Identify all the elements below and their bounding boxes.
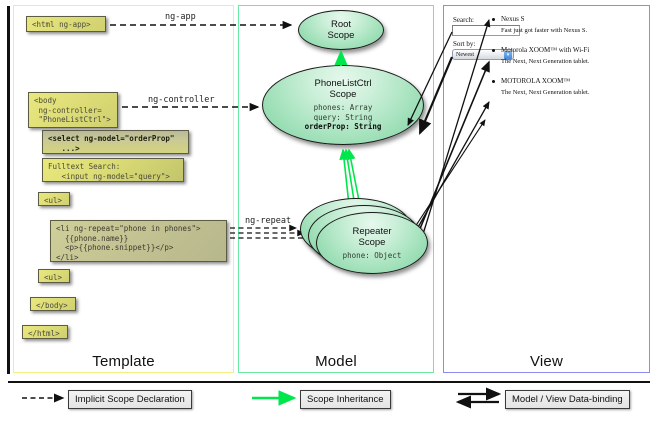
scope-root-title-2: Scope [328, 30, 355, 41]
view-sort-label: Sort by: [453, 40, 475, 48]
list-item[interactable]: Nexus S Fast just got faster with Nexus … [489, 14, 644, 36]
panel-view-title: View [444, 353, 649, 370]
scope-phonelist-title-2: Scope [330, 89, 357, 100]
panel-template-title: Template [14, 353, 233, 370]
phone-name: MOTOROLA XOOM™ [489, 76, 644, 86]
phone-snippet: The Next, Next Generation tablet. [489, 88, 644, 98]
code-li-repeat: <li ng-repeat="phone in phones"> {{phone… [50, 220, 227, 262]
code-ul-open: <ul> [38, 192, 70, 206]
scope-phonelist-title-1: PhoneListCtrl [314, 78, 371, 89]
connector-label-ng-controller: ng-controller [146, 95, 217, 105]
view-search-label: Search: [453, 16, 474, 24]
legend-item-data-binding: Model / View Data-binding [505, 390, 630, 409]
scope-phonelist-props-bold: orderProp: String [305, 122, 382, 131]
connector-label-ng-app: ng-app [163, 12, 198, 22]
scope-repeater-props: phone: Object [343, 251, 402, 261]
left-rule [7, 6, 10, 374]
code-select-tag: <select ng-model="orderProp" ...> [42, 130, 189, 154]
phone-snippet: Fast just got faster with Nexus S. [489, 26, 644, 36]
list-item[interactable]: MOTOROLA XOOM™ The Next, Next Generation… [489, 76, 644, 98]
code-ul-close: <ul> [38, 269, 70, 283]
code-body-close: </body> [30, 297, 76, 311]
scope-phonelist-props-plain: phones: Array query: String [314, 103, 373, 122]
scope-root-title-1: Root [331, 19, 351, 30]
code-html-close: </html> [22, 325, 68, 339]
phone-name: Motorola XOOM™ with Wi-Fi [489, 45, 644, 55]
legend-item-scope-inheritance: Scope Inheritance [300, 390, 391, 409]
legend-item-implicit-scope: Implicit Scope Declaration [68, 390, 192, 409]
phone-snippet: The Next, Next Generation tablet. [489, 57, 644, 67]
phone-name: Nexus S [489, 14, 644, 24]
legend-glyph-double-arrow [458, 394, 499, 402]
connector-label-ng-repeat: ng-repeat [243, 216, 293, 226]
scope-root: Root Scope [298, 10, 384, 50]
diagram-canvas: Template Model View <html ng-app> <body … [0, 0, 661, 425]
code-html-open: <html ng-app> [26, 16, 106, 32]
code-body-open: <body ng-controller= "PhoneListCtrl"> [28, 92, 118, 128]
sort-by-value: Newest [456, 52, 474, 58]
panel-model: Model [238, 5, 434, 373]
scope-repeater: Repeater Scope phone: Object [316, 212, 428, 274]
scope-repeater-title-2: Scope [359, 237, 386, 248]
panel-template: Template [13, 5, 234, 373]
scope-repeater-title-1: Repeater [352, 226, 391, 237]
code-fulltext-search: Fulltext Search: <input ng-model="query"… [42, 158, 184, 182]
legend-separator [8, 381, 650, 383]
phone-list: Nexus S Fast just got faster with Nexus … [489, 14, 644, 102]
panel-model-title: Model [239, 353, 433, 370]
list-item[interactable]: Motorola XOOM™ with Wi-Fi The Next, Next… [489, 45, 644, 67]
scope-phonelistctrl: PhoneListCtrl Scope phones: Array query:… [262, 65, 424, 145]
scope-phonelist-props: phones: Array query: String orderProp: S… [305, 103, 382, 132]
